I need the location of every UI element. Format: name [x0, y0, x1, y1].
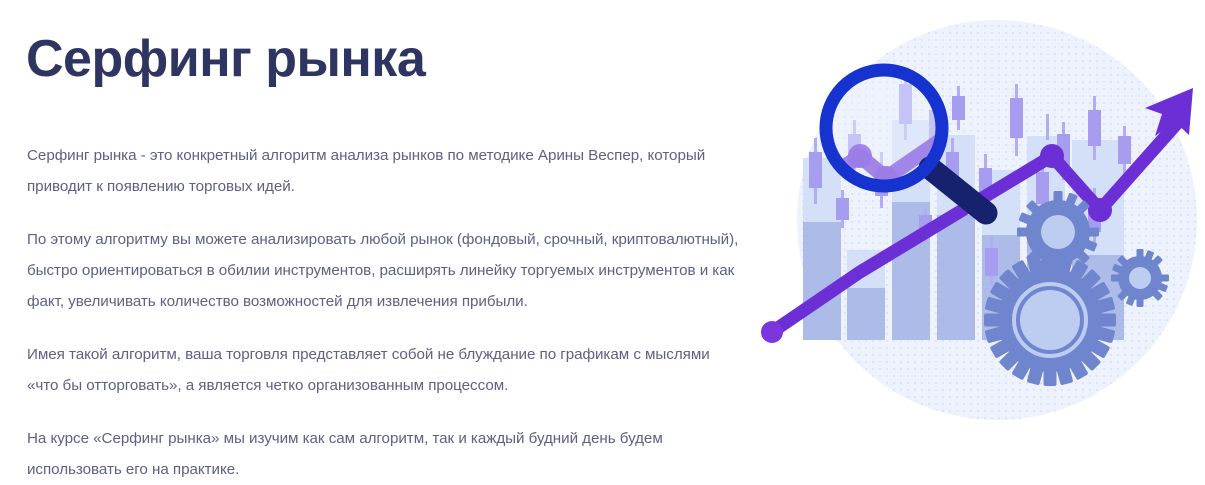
paragraph-3: Имея такой алгоритм, ваша торговля предс…	[27, 339, 743, 401]
paragraph-4: На курсе «Серфинг рынка» мы изучим как с…	[27, 423, 743, 485]
paragraph-2: По этому алгоритму вы можете анализирова…	[27, 224, 743, 317]
text-column: Серфинг рынка Серфинг рынка - это конкре…	[26, 0, 746, 426]
paragraph-1: Серфинг рынка - это конкретный алгоритм …	[27, 140, 743, 202]
gear-small-icon	[1111, 249, 1169, 307]
market-analysis-illustration	[752, 10, 1205, 426]
body-copy: Серфинг рынка - это конкретный алгоритм …	[27, 140, 743, 485]
gear-large-icon	[984, 254, 1116, 386]
page-root: Серфинг рынка Серфинг рынка - это конкре…	[0, 0, 1205, 426]
page-title: Серфинг рынка	[26, 28, 425, 90]
